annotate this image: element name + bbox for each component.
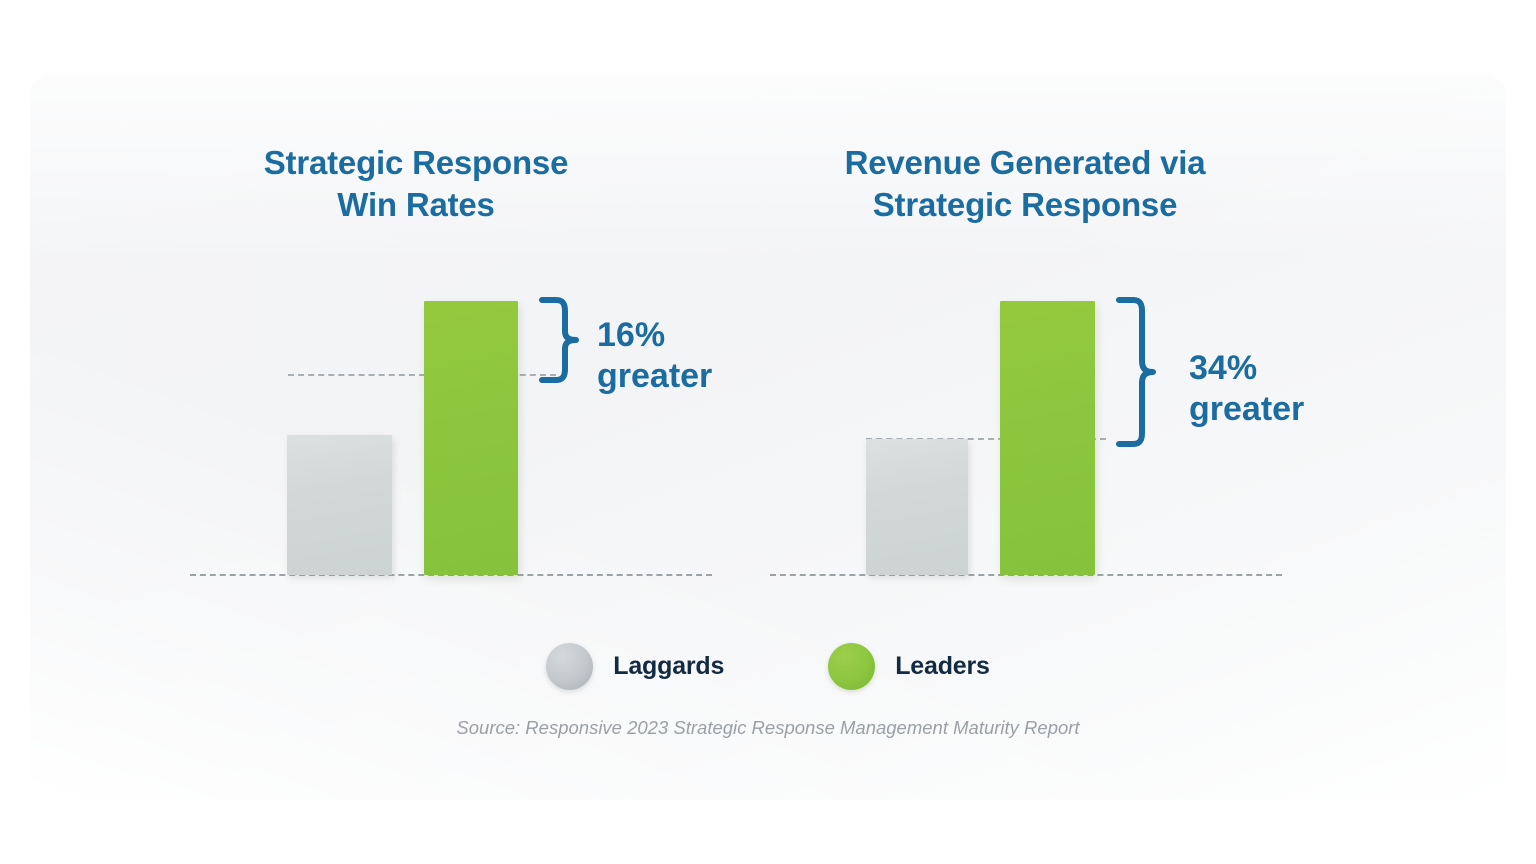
panel-1-title-line-1: Strategic Response [190, 142, 642, 184]
source-note: Source: Responsive 2023 Strategic Respon… [0, 717, 1536, 739]
legend-item-laggards[interactable]: Laggards [546, 643, 724, 690]
panel-title-win-rates: Strategic Response Win Rates [190, 142, 642, 226]
leader-circle-icon [828, 643, 875, 690]
panel-2-title-line-1: Revenue Generated via [770, 142, 1280, 184]
panel-title-revenue: Revenue Generated via Strategic Response [770, 142, 1280, 226]
legend-label-leaders: Leaders [895, 652, 990, 681]
figure-stage: Strategic Response Win Rates Revenue Gen… [0, 0, 1536, 864]
panel-2-title-line-2: Strategic Response [770, 184, 1280, 226]
panel-1-title-line-2: Win Rates [190, 184, 642, 226]
chart-legend: Laggards Leaders [0, 643, 1536, 690]
legend-item-leaders[interactable]: Leaders [828, 643, 990, 690]
laggard-circle-icon [546, 643, 593, 690]
legend-label-laggards: Laggards [613, 652, 724, 681]
